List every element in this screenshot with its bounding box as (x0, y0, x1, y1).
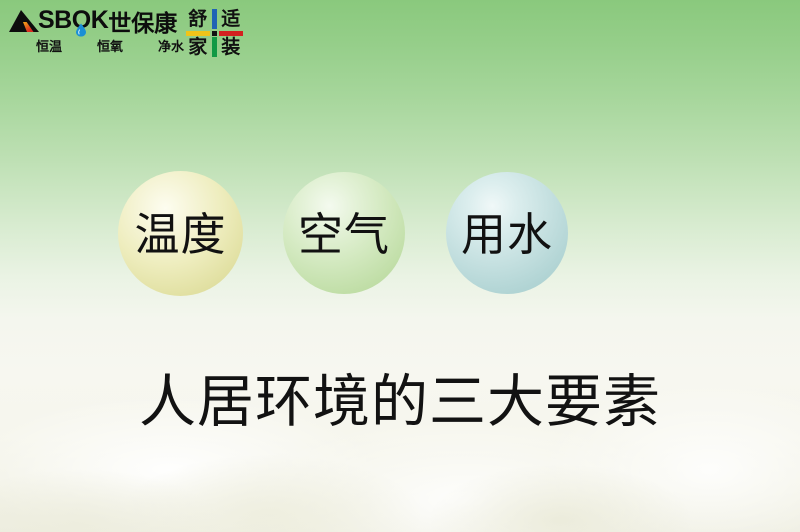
slogan-bar-top (212, 9, 217, 29)
page-title: 人居环境的三大要素 (0, 374, 800, 431)
logo-tagline-3: 净水 (158, 36, 184, 55)
slogan-bar-bottom (212, 37, 217, 57)
brand-logo: SB O K 世保康 恒温 恒氧 净水 (8, 6, 243, 62)
logo-text-sb: SB (38, 6, 72, 35)
mountain-flame-icon (8, 9, 42, 34)
slogan-char-zhuang: 装 (221, 38, 240, 57)
logo-text-k: K (91, 6, 109, 35)
slogan-bar-right (219, 31, 243, 36)
slide-canvas: SB O K 世保康 恒温 恒氧 净水 (0, 0, 800, 532)
bubble-air: 空气 (283, 172, 405, 294)
logo-slogan-block: 舒 适 家 装 (185, 8, 243, 58)
water-drop-icon (76, 15, 87, 28)
slogan-char-shi: 适 (221, 10, 240, 29)
logo-primary-lockup: SB O K 世保康 恒温 恒氧 净水 (8, 6, 182, 62)
bubble-water: 用水 (446, 172, 568, 294)
bubble-label-temperature: 温度 (134, 212, 226, 257)
slogan-char-shu: 舒 (188, 10, 207, 29)
cloud-texture (0, 470, 220, 532)
cloud-texture (430, 465, 690, 532)
cloud-texture (120, 455, 420, 532)
slogan-bar-center (212, 31, 217, 36)
logo-text-chinese: 世保康 (108, 4, 177, 38)
slogan-char-jia: 家 (188, 38, 207, 57)
logo-tagline-1: 恒温 (36, 36, 62, 55)
bubble-label-water: 用水 (461, 212, 553, 257)
slogan-bar-left (186, 31, 210, 36)
cloud-texture (250, 420, 680, 532)
logo-tagline-2: 恒氧 (97, 36, 123, 55)
bubble-label-air: 空气 (298, 212, 390, 257)
bubble-temperature: 温度 (118, 171, 243, 296)
logo-taglines: 恒温 恒氧 净水 (36, 36, 184, 55)
logo-letter-o: O (72, 6, 91, 35)
logo-wordmark: SB O K 世保康 (38, 6, 177, 35)
